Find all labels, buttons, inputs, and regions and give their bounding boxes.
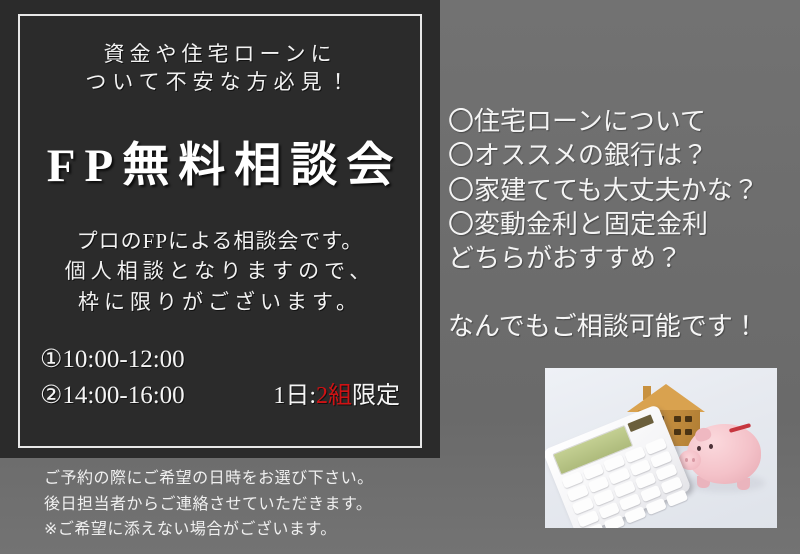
panel-content: 資金や住宅ローンに ついて不安な方必見！ FP無料相談会 プロのFPによる相談会… bbox=[18, 14, 422, 448]
topic-item-5: どちらがおすすめ？ bbox=[448, 241, 796, 275]
piggy-nostril bbox=[685, 458, 688, 462]
topic-item-2: 〇オススメの銀行は？ bbox=[448, 138, 796, 172]
daily-limit-badge: 1日:2組限定 bbox=[273, 379, 400, 414]
topics-list: 〇住宅ローンについて 〇オススメの銀行は？ 〇家建てても大丈夫かな？ 〇変動金利… bbox=[448, 104, 796, 276]
piggy-eye bbox=[709, 444, 713, 449]
calculator-solar-panel bbox=[627, 414, 654, 432]
body-line-2: 個人相談となりますので、 bbox=[18, 256, 422, 286]
note-line-2: 後日担当者からご連絡させていただきます。 bbox=[44, 492, 436, 518]
session-1-time: 10:00-12:00 bbox=[62, 342, 184, 378]
session-2-marker: ② bbox=[40, 378, 62, 414]
piggy-eye bbox=[697, 446, 701, 451]
poster-root: 資金や住宅ローンに ついて不安な方必見！ FP無料相談会 プロのFPによる相談会… bbox=[0, 0, 800, 554]
piggy-nostril bbox=[692, 458, 695, 462]
limit-count: 2組 bbox=[316, 383, 352, 409]
tagline-text: なんでもご相談可能です！ bbox=[448, 306, 796, 343]
body-text-block: プロのFPによる相談会です。 個人相談となりますので、 枠に限りがございます。 bbox=[18, 226, 422, 317]
topic-item-1: 〇住宅ローンについて bbox=[448, 104, 796, 138]
body-line-1: プロのFPによる相談会です。 bbox=[18, 226, 422, 256]
house-window bbox=[674, 416, 681, 422]
note-line-1: ご予約の際にご希望の日時をお選び下さい。 bbox=[44, 466, 436, 492]
house-window bbox=[674, 429, 681, 435]
lead-line-2: ついて不安な方必見！ bbox=[18, 68, 422, 96]
house-window bbox=[685, 416, 692, 422]
dark-info-panel: 資金や住宅ローンに ついて不安な方必見！ FP無料相談会 プロのFPによる相談会… bbox=[0, 0, 440, 458]
finance-photo bbox=[545, 368, 777, 528]
house-window bbox=[685, 429, 692, 435]
session-1-marker: ① bbox=[40, 342, 62, 378]
limit-prefix: 1日: bbox=[273, 383, 316, 409]
body-line-3: 枠に限りがございます。 bbox=[18, 287, 422, 317]
session-times-block: ① 10:00-12:00 ② 14:00-16:00 1日:2組限定 bbox=[40, 342, 400, 415]
house-roof bbox=[627, 384, 705, 412]
lead-line-1: 資金や住宅ローンに bbox=[18, 40, 422, 68]
session-row-1: ① 10:00-12:00 bbox=[40, 342, 400, 378]
session-2-time: 14:00-16:00 bbox=[62, 378, 184, 414]
page-title: FP無料相談会 bbox=[18, 142, 422, 191]
note-line-3: ※ご希望に添えない場合がございます。 bbox=[44, 517, 436, 543]
session-row-2: ② 14:00-16:00 1日:2組限定 bbox=[40, 378, 400, 414]
photo-scene bbox=[545, 368, 777, 528]
booking-note: ご予約の際にご希望の日時をお選び下さい。 後日担当者からご連絡させていただきます… bbox=[44, 466, 436, 543]
limit-suffix: 限定 bbox=[352, 383, 400, 409]
topic-item-3: 〇家建てても大丈夫かな？ bbox=[448, 173, 796, 207]
lead-text-block: 資金や住宅ローンに ついて不安な方必見！ bbox=[18, 40, 422, 97]
topic-item-4: 〇変動金利と固定金利 bbox=[448, 207, 796, 241]
